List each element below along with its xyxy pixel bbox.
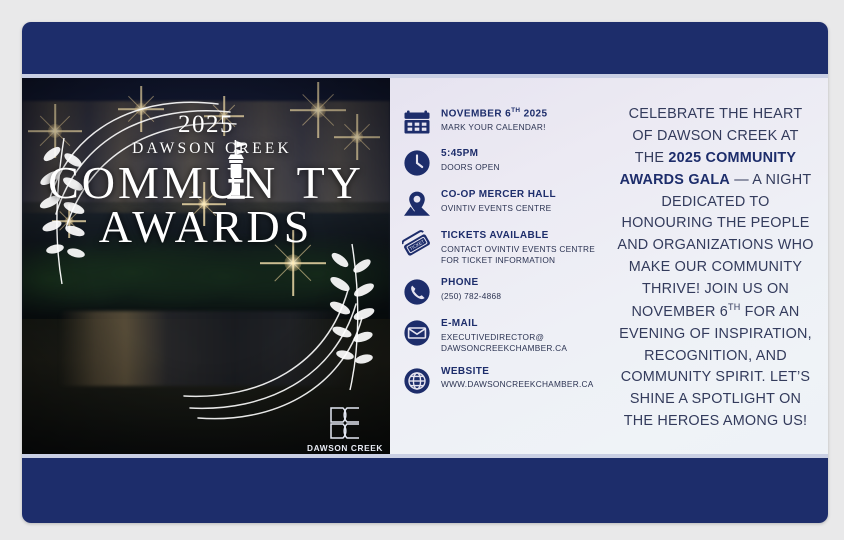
title-community-line: COMMUNITY — [22, 160, 390, 207]
info-text-venue: CO-OP MERCER HALL OVINTIV EVENTS CENTRE — [441, 188, 556, 214]
info-row-venue: CO-OP MERCER HALL OVINTIV EVENTS CENTRE — [402, 188, 599, 219]
award-title-block: 2025 DAWSON CREEK COMMUNITY — [22, 112, 390, 251]
info-sub-tickets-1: CONTACT OVINTIV EVENTS CENTRE — [441, 244, 595, 255]
title-city: DAWSON CREEK — [34, 141, 390, 157]
info-text-date: NOVEMBER 6TH 2025 MARK YOUR CALENDAR! — [441, 106, 547, 133]
info-row-email: E-MAIL EXECUTIVEDIRECTOR@ DAWSONCREEKCHA… — [402, 317, 599, 354]
phone-icon — [402, 277, 432, 307]
poster-content: 2025 DAWSON CREEK COMMUNITY — [22, 78, 828, 454]
info-head-venue: CO-OP MERCER HALL — [441, 189, 556, 202]
ticket-icon: TICKET — [402, 230, 432, 260]
poster-slide: 2025 DAWSON CREEK COMMUNITY — [22, 22, 828, 523]
info-head-website: WEBSITE — [441, 366, 594, 379]
description-column: CELEBRATE THE HEART OF DAWSON CREEK AT T… — [605, 78, 828, 454]
info-sub-venue: OVINTIV EVENTS CENTRE — [441, 203, 556, 214]
description-paragraph: CELEBRATE THE HEART OF DAWSON CREEK AT T… — [617, 104, 814, 433]
chamber-logo: DAWSON CREEK & DISTRICT CHAMBER OF COMME… — [300, 406, 390, 454]
info-text-phone: PHONE (250) 782-4868 — [441, 276, 501, 302]
info-head-date: NOVEMBER 6TH 2025 — [441, 107, 547, 121]
chamber-monogram-icon — [322, 406, 368, 440]
desc-part-2: — A NIGHT DEDICATED TO HONOURING THE PEO… — [617, 172, 813, 320]
info-text-tickets: TICKETS AVAILABLE CONTACT OVINTIV EVENTS… — [441, 229, 595, 266]
info-row-phone: PHONE (250) 782-4868 — [402, 276, 599, 307]
grain-elevator-tower-icon — [223, 138, 249, 200]
info-sub-email-1: EXECUTIVEDIRECTOR@ — [441, 332, 567, 343]
info-row-tickets: TICKET TICKETS AVAILABLE CONTACT OVINTIV… — [402, 229, 599, 266]
info-head-email: E-MAIL — [441, 318, 567, 331]
info-row-date: NOVEMBER 6TH 2025 MARK YOUR CALENDAR! — [402, 106, 599, 137]
clock-icon — [402, 148, 432, 178]
top-navy-band — [22, 22, 828, 74]
title-awards-line: AWARDS — [22, 204, 390, 251]
globe-icon — [402, 366, 432, 396]
bottom-navy-band — [22, 458, 828, 523]
info-text-email: E-MAIL EXECUTIVEDIRECTOR@ DAWSONCREEKCHA… — [441, 317, 567, 354]
desc-ordinal-suffix: TH — [728, 302, 740, 312]
info-head-tickets: TICKETS AVAILABLE — [441, 230, 595, 243]
info-sub-tickets-2: FOR TICKET INFORMATION — [441, 255, 595, 266]
info-row-website: WEBSITE WWW.DAWSONCREEKCHAMBER.CA — [402, 365, 599, 396]
info-row-time: 5:45PM DOORS OPEN — [402, 147, 599, 178]
event-info-column: NOVEMBER 6TH 2025 MARK YOUR CALENDAR! 5:… — [390, 78, 605, 454]
info-sub-time: DOORS OPEN — [441, 162, 500, 173]
info-sub-website: WWW.DAWSONCREEKCHAMBER.CA — [441, 379, 594, 390]
info-sub-phone: (250) 782-4868 — [441, 291, 501, 302]
info-sub-email-2: DAWSONCREEKCHAMBER.CA — [441, 343, 567, 354]
night-city-photo: 2025 DAWSON CREEK COMMUNITY — [22, 78, 390, 454]
info-head-phone: PHONE — [441, 277, 501, 290]
info-text-website: WEBSITE WWW.DAWSONCREEKCHAMBER.CA — [441, 365, 594, 391]
logo-line-1: DAWSON CREEK — [300, 443, 390, 453]
info-head-time: 5:45PM — [441, 148, 500, 161]
info-text-time: 5:45PM DOORS OPEN — [441, 147, 500, 173]
envelope-icon — [402, 318, 432, 348]
info-sub-date: MARK YOUR CALENDAR! — [441, 122, 547, 133]
location-pin-icon — [402, 189, 432, 219]
title-community-after: TY — [297, 157, 364, 208]
title-year: 2025 — [22, 112, 390, 137]
calendar-icon — [402, 107, 432, 137]
desc-part-3: FOR AN EVENING OF INSPIRATION, RECOGNITI… — [619, 304, 812, 429]
